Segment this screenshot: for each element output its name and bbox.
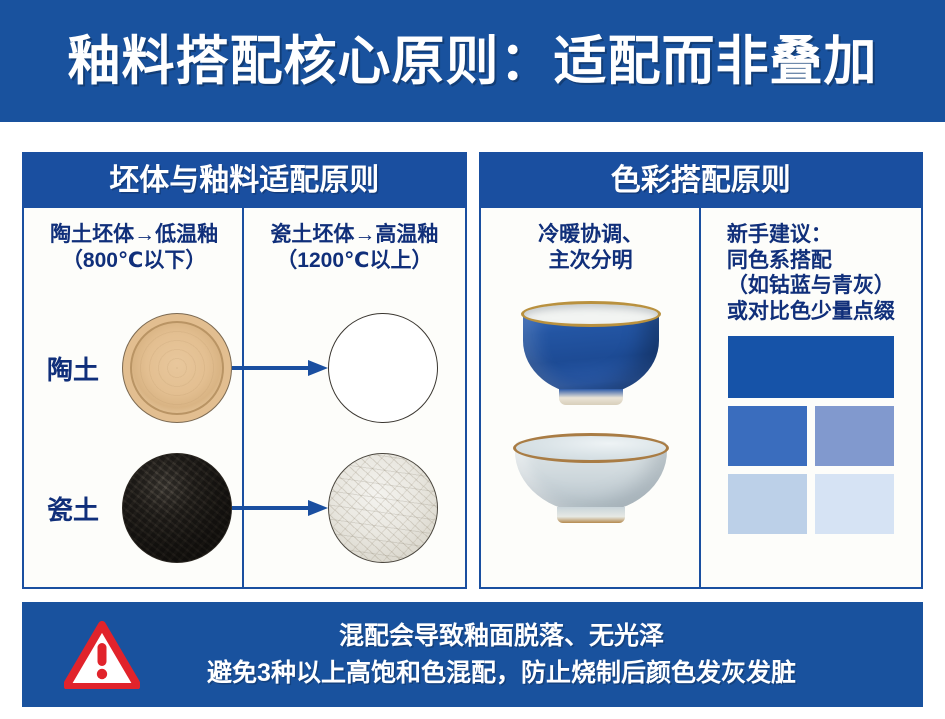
panel-header-left: 坯体与釉料适配原则 bbox=[24, 154, 465, 208]
dark-earth-photo-icon bbox=[122, 453, 232, 563]
material-row-pottery: 陶土 bbox=[24, 298, 465, 438]
bowl-rim bbox=[513, 433, 669, 463]
porcelain-caption-line-2: （1200℃以上） bbox=[270, 248, 438, 274]
warning-line-1: 混配会导致釉面脱落、无光泽 bbox=[150, 618, 853, 654]
panel-right-column-beginner-tips: 新手建议： 同色系搭配 （如钴蓝与青灰） 或对比色少量点缀 bbox=[701, 208, 921, 587]
panel-body-glaze-matching: 坯体与釉料适配原则 陶土坯体→低温釉 （800℃以下） 瓷土坯体→高温釉 （12… bbox=[22, 152, 467, 589]
arrow-porcelain bbox=[232, 498, 328, 518]
color-swatch-palette bbox=[728, 336, 894, 534]
clay-bowl-photo-icon bbox=[122, 313, 232, 423]
cup-rim bbox=[521, 301, 661, 327]
arrow-right-icon bbox=[232, 358, 328, 378]
pottery-caption-line-2: （800℃以下） bbox=[50, 248, 218, 274]
beginner-tips-line-1: 新手建议： bbox=[727, 222, 895, 248]
panel-right-column-harmony: 冷暖协调、 主次分明 bbox=[481, 208, 701, 587]
panels-container: 坯体与釉料适配原则 陶土坯体→低温釉 （800℃以下） 瓷土坯体→高温釉 （12… bbox=[22, 152, 923, 589]
pottery-caption-line-1: 陶土坯体→低温釉 bbox=[50, 222, 218, 248]
celadon-bowl-photo-icon bbox=[501, 423, 681, 543]
beginner-tips-caption: 新手建议： 同色系搭配 （如钴蓝与青灰） 或对比色少量点缀 bbox=[727, 222, 895, 324]
page-title: 釉料搭配核心原则：适配而非叠加 bbox=[68, 35, 878, 88]
panel-header-left-label: 坯体与釉料适配原则 bbox=[109, 166, 379, 196]
arrow-pottery bbox=[232, 358, 328, 378]
warning-text: 混配会导致釉面脱落、无光泽 避免3种以上高饱和色混配，防止烧制后颜色发灰发脏 bbox=[150, 618, 923, 691]
cup-foot bbox=[559, 389, 623, 405]
beginner-tips-line-2: 同色系搭配 bbox=[727, 248, 895, 274]
panel-header-right: 色彩搭配原则 bbox=[481, 154, 922, 208]
porcelain-caption: 瓷土坯体→高温釉 （1200℃以上） bbox=[270, 222, 438, 273]
harmony-caption-line-2: 主次分明 bbox=[538, 248, 643, 274]
beginner-tips-line-4: 或对比色少量点缀 bbox=[727, 299, 895, 325]
porcelain-caption-line-1: 瓷土坯体→高温釉 bbox=[270, 222, 438, 248]
panel-color-matching: 色彩搭配原则 冷暖协调、 主次分明 bbox=[479, 152, 924, 589]
panel-header-right-label: 色彩搭配原则 bbox=[611, 166, 791, 196]
material-label-pottery: 陶土 bbox=[24, 350, 122, 387]
panel-left-body: 陶土坯体→低温釉 （800℃以下） 瓷土坯体→高温釉 （1200℃以上） 陶土 bbox=[24, 208, 465, 587]
white-powder-photo-icon bbox=[328, 453, 438, 563]
color-swatch-2 bbox=[815, 406, 894, 466]
material-label-porcelain: 瓷土 bbox=[24, 490, 122, 527]
beginner-tips-line-3: （如钴蓝与青灰） bbox=[727, 273, 895, 299]
arrow-right-icon bbox=[232, 498, 328, 518]
pottery-caption: 陶土坯体→低温釉 （800℃以下） bbox=[50, 222, 218, 273]
color-swatch-1 bbox=[728, 406, 807, 466]
color-swatch-4 bbox=[815, 474, 894, 534]
title-bar: 釉料搭配核心原则：适配而非叠加 bbox=[0, 0, 945, 122]
empty-circle-outline-icon bbox=[328, 313, 438, 423]
warning-line-2: 避免3种以上高饱和色混配，防止烧制后颜色发灰发脏 bbox=[150, 655, 853, 691]
harmony-caption-line-1: 冷暖协调、 bbox=[538, 222, 643, 248]
warning-bar: 混配会导致釉面脱落、无光泽 避免3种以上高饱和色混配，防止烧制后颜色发灰发脏 bbox=[22, 602, 923, 707]
cobalt-blue-cup-photo-icon bbox=[501, 293, 681, 413]
harmony-caption: 冷暖协调、 主次分明 bbox=[538, 222, 643, 273]
panel-right-body: 冷暖协调、 主次分明 新手建议： 同色系搭配 （如 bbox=[481, 208, 922, 587]
color-swatch-3 bbox=[728, 474, 807, 534]
material-rows-area: 陶土 瓷土 bbox=[24, 294, 465, 587]
warning-triangle-icon bbox=[64, 621, 140, 689]
color-swatch-primary bbox=[728, 336, 894, 398]
bowl-foot bbox=[557, 507, 625, 523]
material-row-porcelain: 瓷土 bbox=[24, 438, 465, 578]
color-swatch-grid bbox=[728, 406, 894, 534]
